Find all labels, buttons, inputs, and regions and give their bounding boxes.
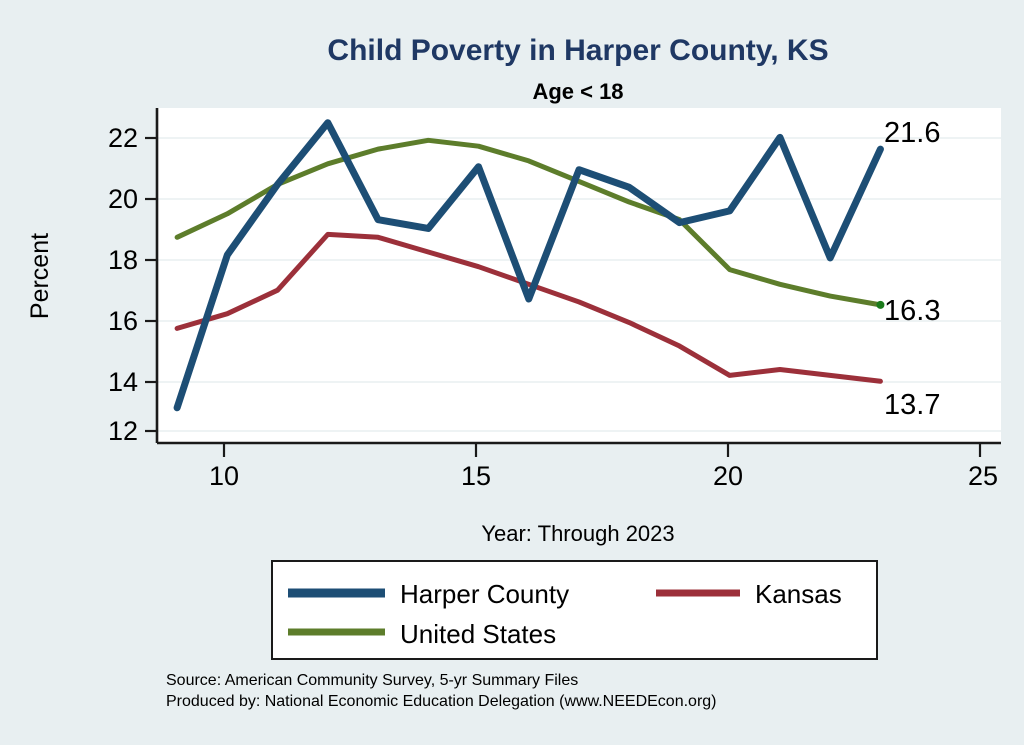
child-poverty-line-chart: Child Poverty in Harper County, KS Age <… [0, 0, 1024, 745]
x-tick-label-10: 10 [209, 461, 239, 491]
legend-label-kansas: Kansas [755, 579, 842, 609]
x-tick-label-25: 25 [968, 461, 998, 491]
x-tick-label-15: 15 [461, 461, 491, 491]
y-tick-label-22: 22 [108, 123, 138, 153]
x-axis-title: Year: Through 2023 [481, 521, 674, 546]
legend-border [272, 561, 877, 659]
end-label-harper-county: 21.6 [884, 117, 940, 149]
legend: Harper County Kansas United States [272, 561, 877, 659]
y-tick-label-14: 14 [108, 367, 138, 397]
legend-label-harper-county: Harper County [400, 579, 569, 609]
chart-title: Child Poverty in Harper County, KS [327, 34, 828, 67]
end-label-united-states: 16.3 [884, 295, 940, 327]
legend-label-united-states: United States [400, 619, 556, 649]
y-tick-label-12: 12 [108, 416, 138, 446]
y-tick-label-20: 20 [108, 184, 138, 214]
footer-produced-by-line: Produced by: National Economic Education… [166, 693, 717, 710]
y-axis-title: Percent [26, 233, 54, 319]
chart-subtitle: Age < 18 [532, 79, 623, 104]
footer-source-line: Source: American Community Survey, 5-yr … [166, 672, 578, 689]
end-label-kansas: 13.7 [884, 389, 940, 421]
y-tick-label-18: 18 [108, 245, 138, 275]
y-tick-label-16: 16 [108, 306, 138, 336]
x-tick-label-20: 20 [713, 461, 743, 491]
